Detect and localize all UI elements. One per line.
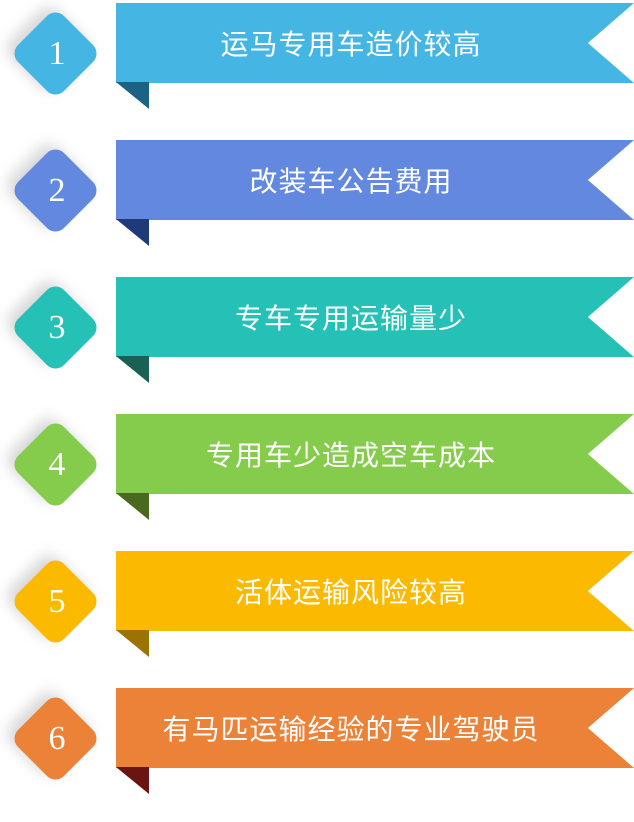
step-row: 1 运马专用车造价较高 [0, 0, 634, 137]
step-badge[interactable]: 4 [10, 419, 102, 511]
step-badge[interactable]: 6 [10, 693, 102, 785]
step-banner[interactable]: 改装车公告费用 [116, 140, 634, 220]
step-label: 运马专用车造价较高 [116, 3, 586, 83]
banner-fold [116, 219, 149, 246]
step-label: 专用车少造成空车成本 [116, 414, 586, 494]
step-badge[interactable]: 3 [10, 282, 102, 374]
banner-fold [116, 493, 149, 520]
step-number: 2 [10, 145, 102, 237]
step-row: 6 有马匹运输经验的专业驾驶员 [0, 685, 634, 822]
step-banner[interactable]: 运马专用车造价较高 [116, 3, 634, 83]
step-banner[interactable]: 活体运输风险较高 [116, 551, 634, 631]
step-row: 3 专车专用运输量少 [0, 274, 634, 411]
step-label: 有马匹运输经验的专业驾驶员 [116, 688, 586, 768]
step-label: 改装车公告费用 [116, 140, 586, 220]
step-badge[interactable]: 1 [10, 8, 102, 100]
step-banner[interactable]: 有马匹运输经验的专业驾驶员 [116, 688, 634, 768]
numbered-ribbon-infographic: 1 运马专用车造价较高 2 改装车公告费用 3 专车专用运输量少 [0, 0, 634, 811]
step-banner[interactable]: 专车专用运输量少 [116, 277, 634, 357]
banner-fold [116, 356, 149, 383]
step-row: 2 改装车公告费用 [0, 137, 634, 274]
step-number: 5 [10, 556, 102, 648]
step-row: 5 活体运输风险较高 [0, 548, 634, 685]
step-number: 3 [10, 282, 102, 374]
step-badge[interactable]: 2 [10, 145, 102, 237]
banner-fold [116, 630, 149, 657]
step-number: 4 [10, 419, 102, 511]
step-label: 专车专用运输量少 [116, 277, 586, 357]
step-banner[interactable]: 专用车少造成空车成本 [116, 414, 634, 494]
step-label: 活体运输风险较高 [116, 551, 586, 631]
banner-fold [116, 767, 149, 794]
step-number: 1 [10, 8, 102, 100]
banner-fold [116, 82, 149, 109]
step-row: 4 专用车少造成空车成本 [0, 411, 634, 548]
step-number: 6 [10, 693, 102, 785]
step-badge[interactable]: 5 [10, 556, 102, 648]
